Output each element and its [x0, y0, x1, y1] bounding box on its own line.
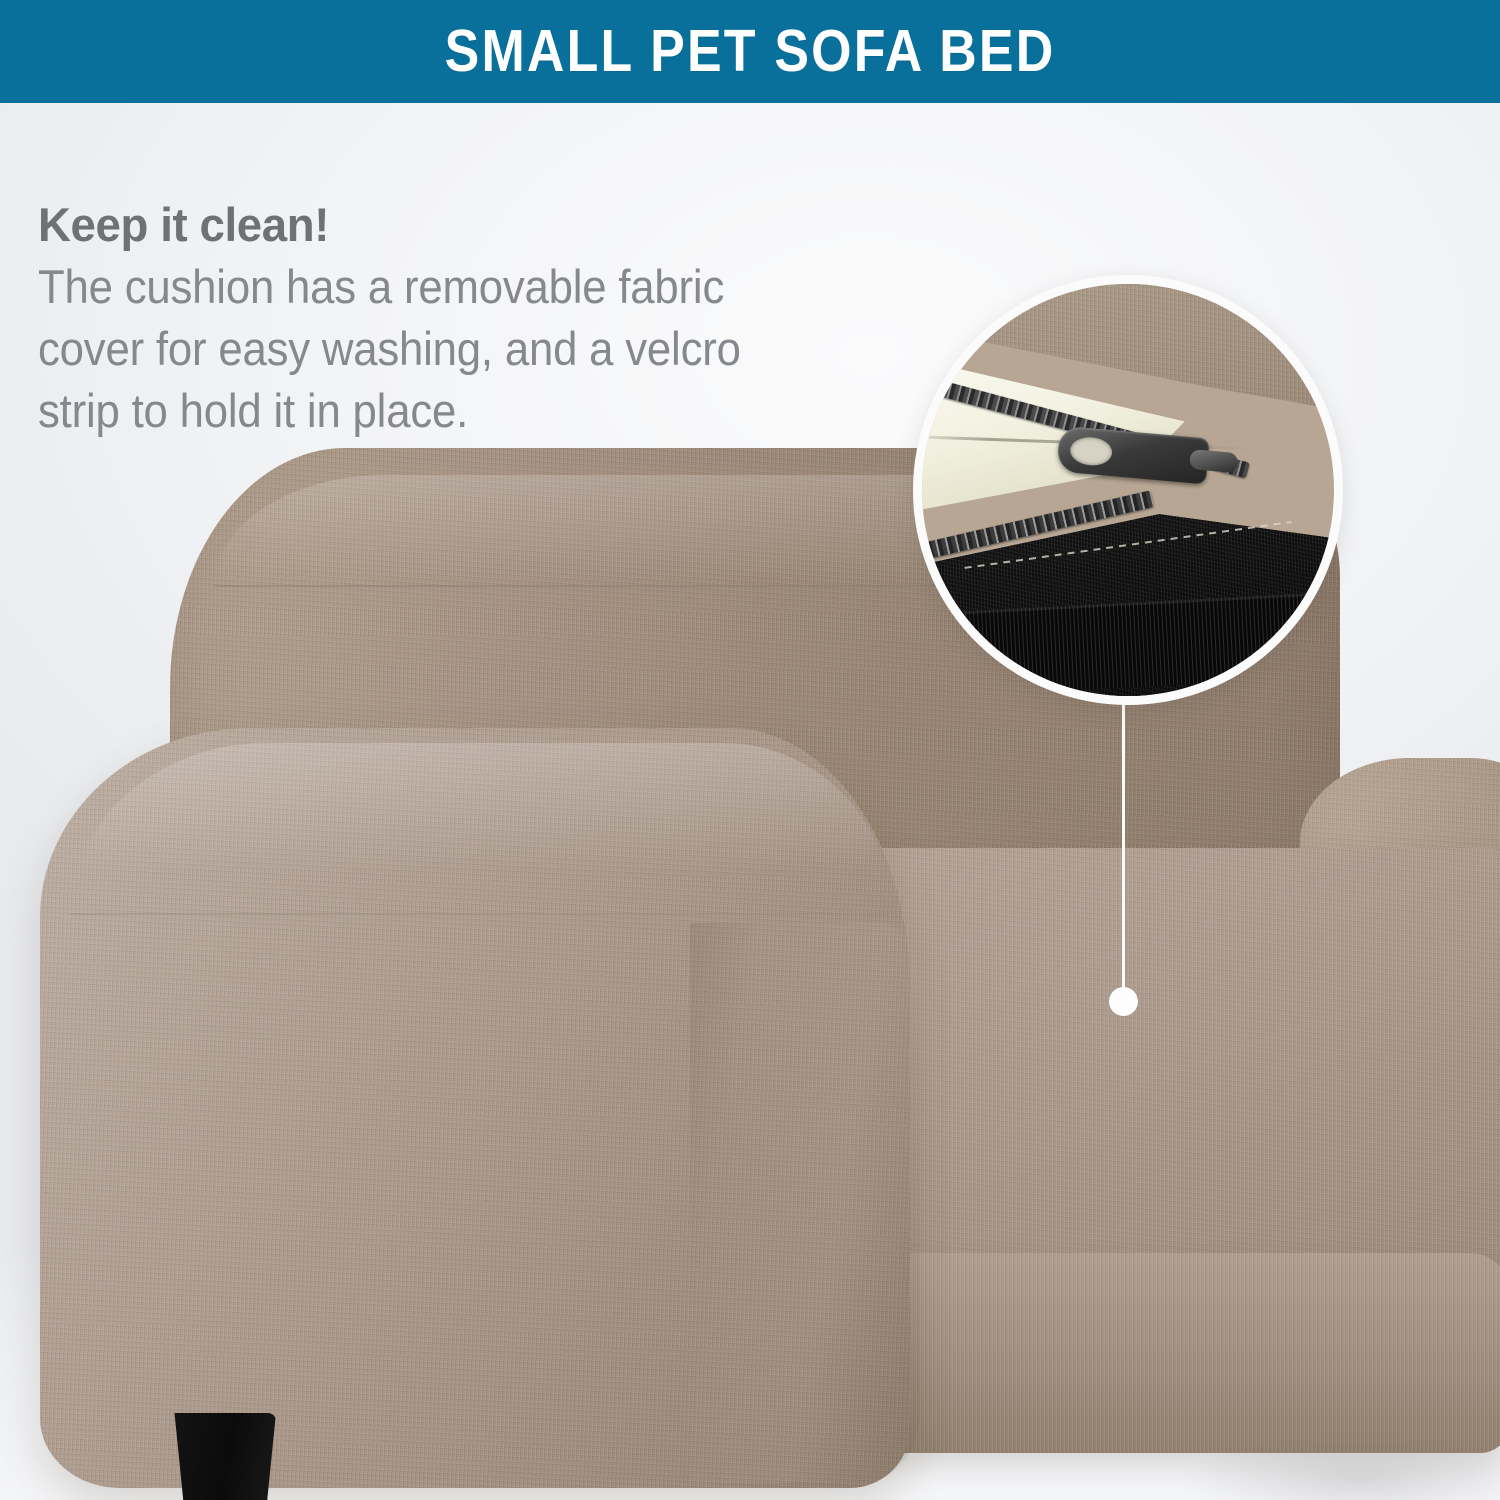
product-infographic: SMALL PET SOFA BED: [0, 0, 1500, 1500]
callout-pointer-dot: [1109, 987, 1138, 1016]
header-banner: SMALL PET SOFA BED: [0, 0, 1500, 103]
zipper-slider-tail: [1189, 449, 1239, 473]
callout-pointer-line: [1122, 688, 1125, 1006]
feature-copy-block: Keep it clean! The cushion has a removab…: [38, 201, 868, 442]
zipper-detail-photo: [922, 284, 1334, 696]
left-armrest-seam: [70, 743, 890, 915]
feature-description: The cushion has a removable fabric cover…: [38, 256, 810, 442]
product-scene: Keep it clean! The cushion has a removab…: [0, 103, 1500, 1500]
page-title: SMALL PET SOFA BED: [445, 22, 1056, 81]
left-armrest-fold: [690, 923, 920, 1483]
sofa-front-left-leg: [168, 1413, 276, 1500]
zipper-detail-callout: [913, 275, 1343, 705]
zipper-pull-hole: [1069, 436, 1113, 468]
feature-heading: Keep it clean!: [38, 201, 843, 248]
